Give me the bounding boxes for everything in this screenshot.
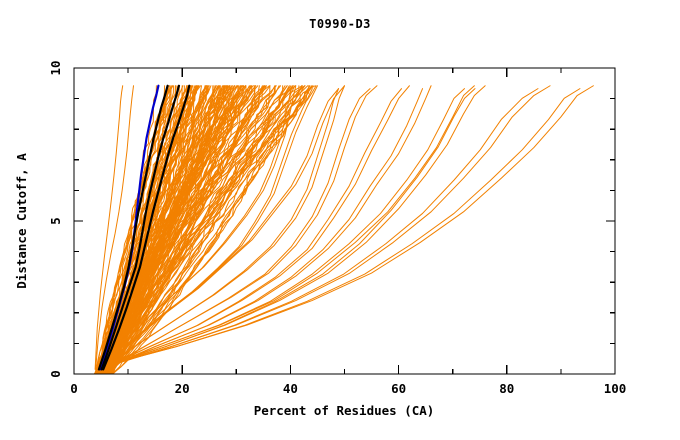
x-tick-label-0: 0 — [70, 381, 78, 396]
x-tick-label-20: 20 — [175, 381, 190, 396]
y-tick-label-5: 5 — [48, 217, 63, 225]
x-tick-label-80: 80 — [499, 381, 514, 396]
y-tick-label-0: 0 — [48, 370, 63, 378]
y-tick-label-10: 10 — [48, 60, 63, 75]
x-tick-label-40: 40 — [283, 381, 298, 396]
distance-cutoff-plot: 0204060801000510 Percent of Residues (CA… — [0, 0, 680, 440]
chart-page: T0990-D3 0204060801000510 Percent of Res… — [0, 0, 680, 440]
curve-layer — [94, 86, 593, 374]
x-tick-label-60: 60 — [391, 381, 406, 396]
x-axis-label: Percent of Residues (CA) — [254, 403, 435, 418]
y-axis-label: Distance Cutoff, A — [14, 153, 29, 289]
x-tick-label-100: 100 — [604, 381, 627, 396]
